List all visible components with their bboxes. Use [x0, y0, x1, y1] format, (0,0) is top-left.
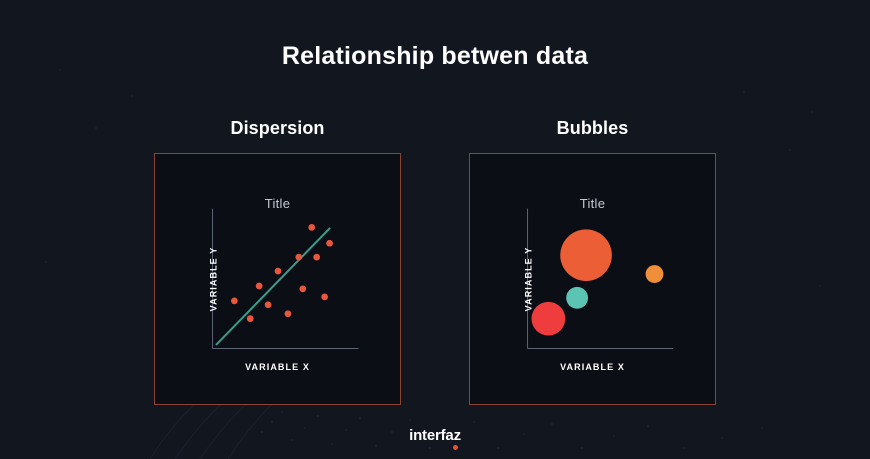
scatter-point	[295, 254, 302, 261]
panel-bubbles: Bubbles Title VARIABLE Y VARIABLE X	[469, 118, 716, 418]
scatter-point	[326, 240, 333, 247]
brand-footer: interfaz	[0, 427, 870, 445]
scatter-point	[275, 268, 282, 275]
scatter-chart-title: Title	[155, 196, 400, 211]
scatter-chart-frame[interactable]: Title VARIABLE Y VARIABLE X	[154, 153, 401, 405]
scatter-point	[285, 310, 292, 317]
large-orange-bubble	[560, 229, 612, 281]
scatter-point	[265, 301, 272, 308]
small-orange-bubble	[646, 265, 664, 283]
scatter-point	[247, 315, 254, 322]
scatter-point	[313, 254, 320, 261]
scatter-point	[231, 297, 238, 304]
scatter-points	[231, 224, 333, 322]
panel-dispersion: Dispersion	[154, 118, 401, 418]
panel-heading-dispersion: Dispersion	[230, 118, 324, 139]
scatter-point	[321, 293, 328, 300]
brand-name: interfaz	[409, 427, 461, 444]
scatter-point	[299, 286, 306, 293]
teal-bubble	[566, 287, 588, 309]
bubble-x-axis-label: VARIABLE X	[470, 362, 715, 372]
bubble-chart-title: Title	[470, 196, 715, 211]
charts-row: Dispersion	[0, 118, 870, 418]
panel-heading-bubbles: Bubbles	[557, 118, 629, 139]
scatter-x-axis-label: VARIABLE X	[155, 362, 400, 372]
bubble-chart-frame[interactable]: Title VARIABLE Y VARIABLE X	[469, 153, 716, 405]
page-title: Relationship betwen data	[0, 42, 870, 71]
scatter-y-axis-label: VARIABLE Y	[208, 247, 218, 312]
scatter-point	[256, 283, 263, 290]
red-bubble	[531, 302, 565, 336]
trend-line	[216, 228, 329, 344]
brand-dot-icon	[453, 445, 458, 450]
scatter-point	[308, 224, 315, 231]
bubble-y-axis-label: VARIABLE Y	[523, 247, 533, 312]
